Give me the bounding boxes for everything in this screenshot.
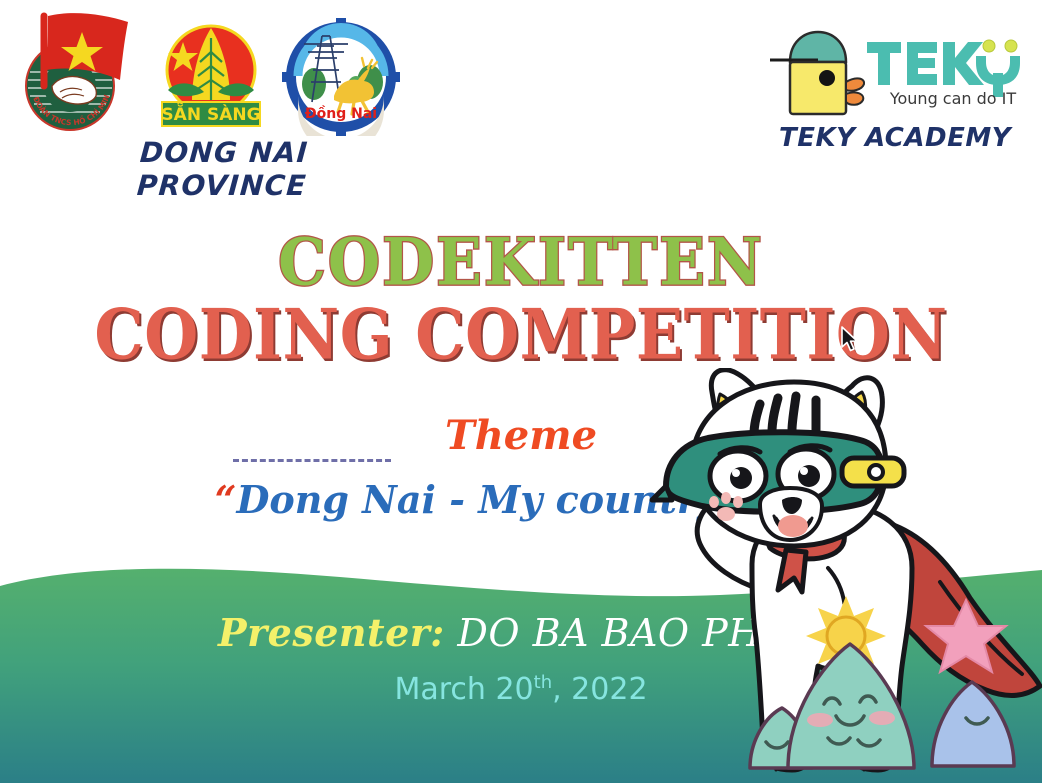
date-ordinal: th (534, 672, 552, 693)
teky-tagline: Young can do IT (889, 89, 1017, 108)
teky-academy-label: TEKY ACADEMY (760, 123, 1030, 153)
province-label: DONG NAI PROVINCE (56, 136, 391, 202)
young-pioneer-san-sang-emblem: SẴN SÀNG (152, 18, 270, 136)
theme-underline-divider (233, 459, 391, 465)
teky-academy-logo: Young can do IT TEKY ACADEMY (760, 18, 1030, 143)
presenter-label: Presenter: (218, 610, 445, 655)
svg-text:Đồng Nai: Đồng Nai (305, 105, 377, 122)
date-prefix: March 20 (394, 672, 533, 707)
teky-bird-icon (770, 26, 865, 118)
page-title-coding-competition: CODING COMPETITION (0, 294, 1042, 376)
ho-chi-minh-communist-youth-union-emblem: ĐOÀN TNCS HỒ CHÍ MINH (12, 8, 144, 134)
teky-wordmark: Young can do IT (865, 28, 1025, 108)
codekitten-mascot (610, 368, 1042, 783)
presentation-slide: ĐOÀN TNCS HỒ CHÍ MINH (0, 0, 1042, 783)
page-title-codekitten: CODEKITTEN (0, 225, 1042, 301)
mouse-pointer-icon (840, 326, 860, 354)
dong-nai-province-emblem: Đồng Nai (282, 18, 400, 136)
quote-open: “ (215, 477, 237, 522)
